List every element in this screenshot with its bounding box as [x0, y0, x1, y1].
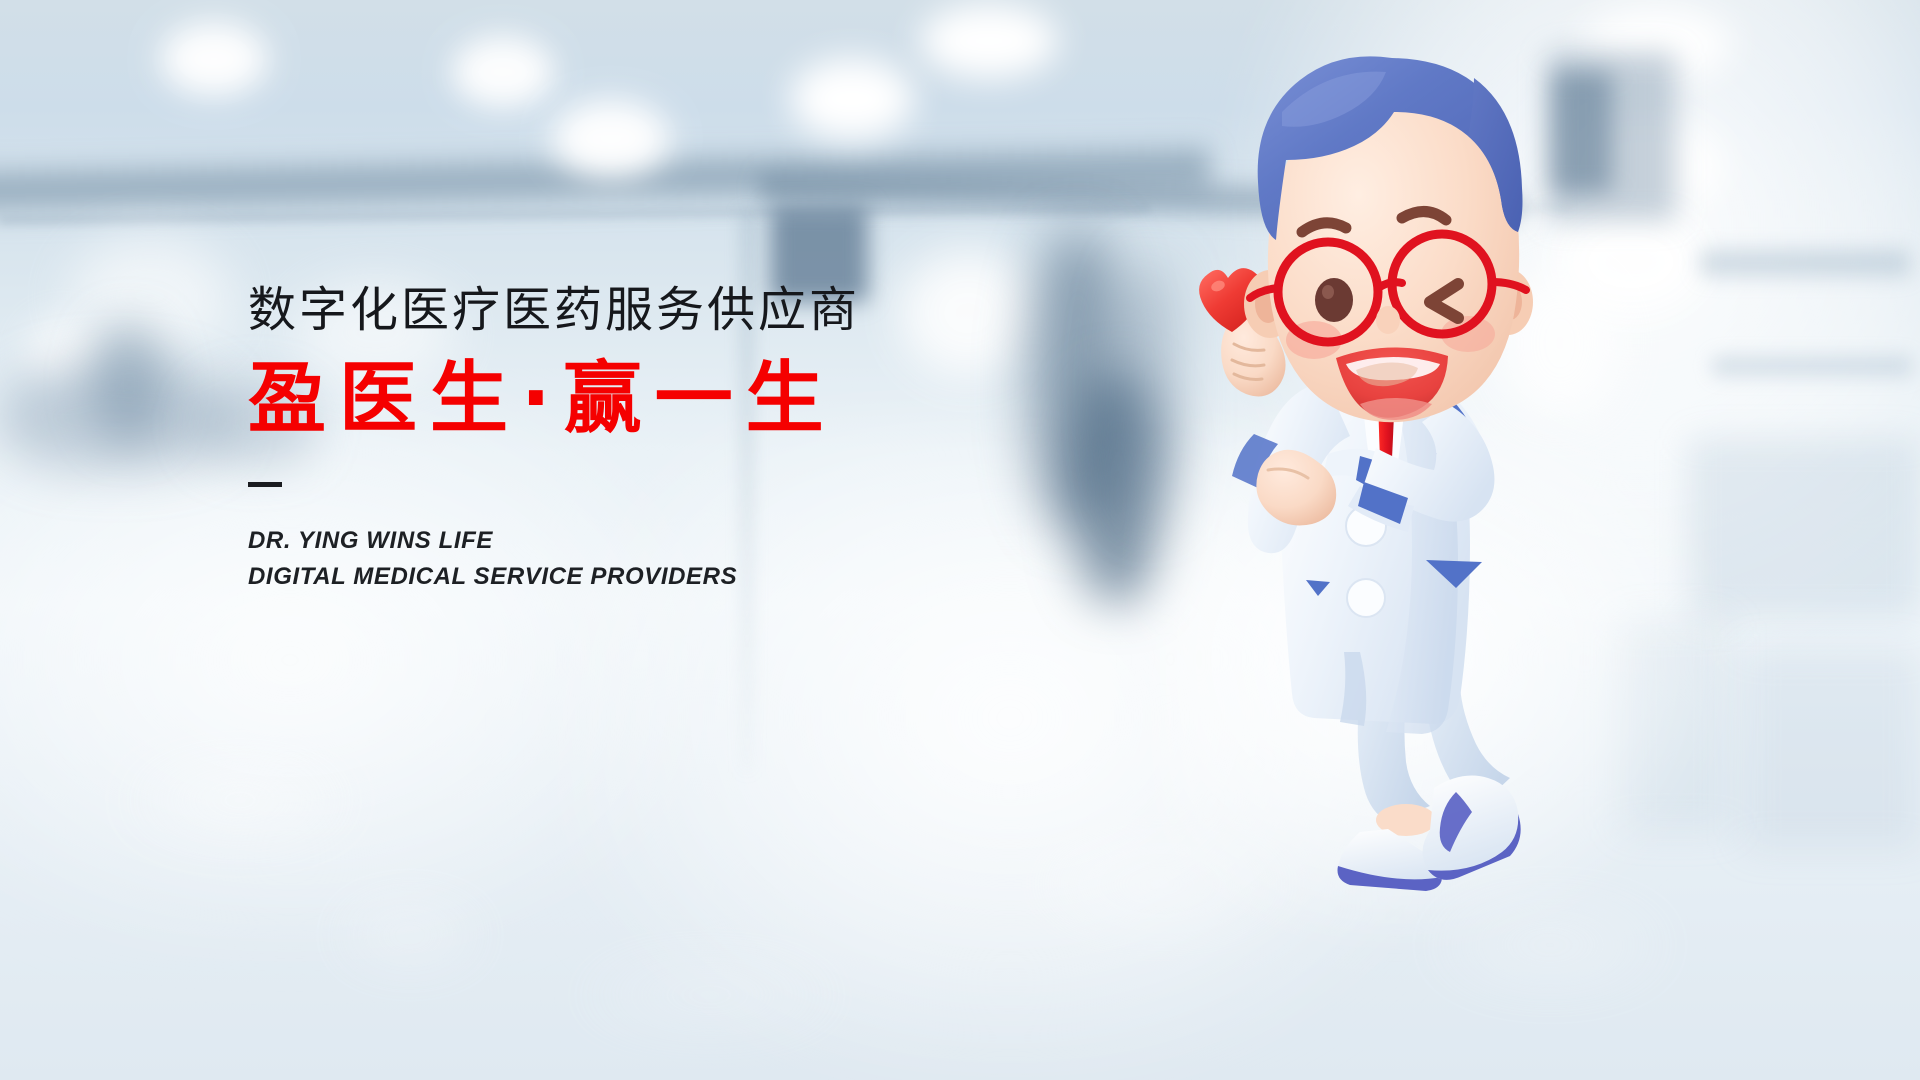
eyebrow-heading: 数字化医疗医药服务供应商 [248, 286, 1008, 334]
background-shelf [1712, 356, 1912, 376]
ceiling-light [160, 22, 268, 96]
background-shelf [1700, 250, 1910, 276]
background-shelf [1688, 438, 1920, 618]
floor-reflection [330, 900, 490, 970]
background-person [1118, 260, 1180, 520]
hero-banner: 数字化医疗医药服务供应商 盈医生·赢一生 DR. YING WINS LIFE … [0, 0, 1920, 1080]
floor-reflection [1420, 900, 1680, 990]
headline-divider [248, 482, 282, 487]
doctor-mascot-illustration [1210, 52, 1640, 882]
ceiling-light [452, 36, 554, 108]
ceiling-light [790, 58, 914, 140]
hero-copy-block: 数字化医疗医药服务供应商 盈医生·赢一生 DR. YING WINS LIFE … [248, 286, 1008, 596]
ceiling-light [920, 4, 1058, 78]
background-shelf [1744, 648, 1920, 848]
english-subtitle-line-2: DIGITAL MEDICAL SERVICE PROVIDERS [248, 559, 1008, 595]
english-subtitle-line-1: DR. YING WINS LIFE [248, 523, 1008, 559]
ceiling-light [552, 100, 670, 178]
floor-reflection [120, 760, 360, 840]
english-subtitle-group: DR. YING WINS LIFE DIGITAL MEDICAL SERVI… [248, 523, 1008, 596]
main-headline: 盈医生·赢一生 [248, 360, 1008, 438]
floor-reflection [560, 960, 860, 1030]
